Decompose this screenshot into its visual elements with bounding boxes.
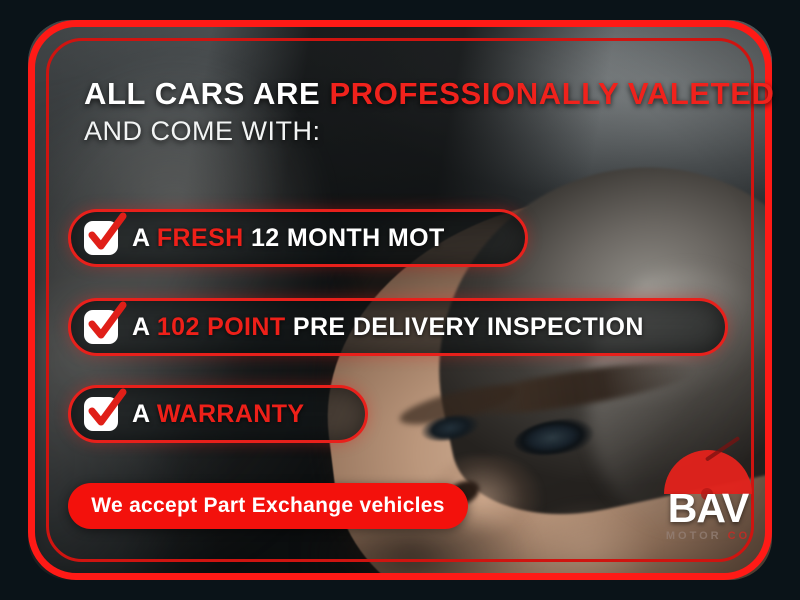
- feature-highlight: WARRANTY: [157, 400, 305, 428]
- part-exchange-button[interactable]: We accept Part Exchange vehicles: [68, 483, 468, 529]
- headline-line-1: ALL CARS ARE PROFESSIONALLY VALETED: [84, 78, 734, 110]
- bav-logo-tagline-left: MOTOR: [666, 530, 728, 542]
- checkmark-glyph: [87, 391, 125, 431]
- red-checkmark-icon: [84, 221, 118, 255]
- feature-highlight: 102 POINT: [157, 313, 286, 341]
- part-exchange-button-label: We accept Part Exchange vehicles: [91, 494, 445, 518]
- feature-prefix: A: [132, 400, 157, 428]
- feature-pill-mot[interactable]: A FRESH 12 MONTH MOT: [68, 209, 528, 267]
- feature-pill-warranty[interactable]: A WARRANTY: [68, 385, 368, 443]
- feature-highlight: FRESH: [157, 224, 244, 252]
- headline-red-text: PROFESSIONALLY VALETED: [329, 76, 774, 111]
- feature-pill-mot-label: A FRESH 12 MONTH MOT: [132, 224, 445, 253]
- feature-pill-inspection[interactable]: A 102 POINT PRE DELIVERY INSPECTION: [68, 298, 728, 356]
- feature-suffix: PRE DELIVERY INSPECTION: [286, 313, 644, 341]
- bav-logo-tagline: MOTOR CO: [654, 530, 762, 542]
- feature-pill-inspection-label: A 102 POINT PRE DELIVERY INSPECTION: [132, 313, 644, 342]
- feature-prefix: A: [132, 313, 157, 341]
- headline-line-2: AND COME WITH:: [84, 118, 734, 146]
- feature-suffix: 12 MONTH MOT: [244, 224, 445, 252]
- promo-banner: ALL CARS ARE PROFESSIONALLY VALETED AND …: [0, 0, 800, 600]
- checkmark-glyph: [87, 215, 125, 255]
- feature-pill-warranty-label: A WARRANTY: [132, 400, 305, 429]
- red-checkmark-icon: [84, 310, 118, 344]
- red-checkmark-icon: [84, 397, 118, 431]
- bav-logo-tagline-right: CO: [728, 530, 751, 542]
- feature-prefix: A: [132, 224, 157, 252]
- checkmark-glyph: [87, 304, 125, 344]
- bav-logo-wordmark: BAV: [654, 488, 762, 529]
- headline-block: ALL CARS ARE PROFESSIONALLY VALETED AND …: [84, 78, 734, 145]
- headline-white-text: ALL CARS ARE: [84, 76, 329, 111]
- bav-logo[interactable]: BAV MOTOR CO: [648, 450, 768, 555]
